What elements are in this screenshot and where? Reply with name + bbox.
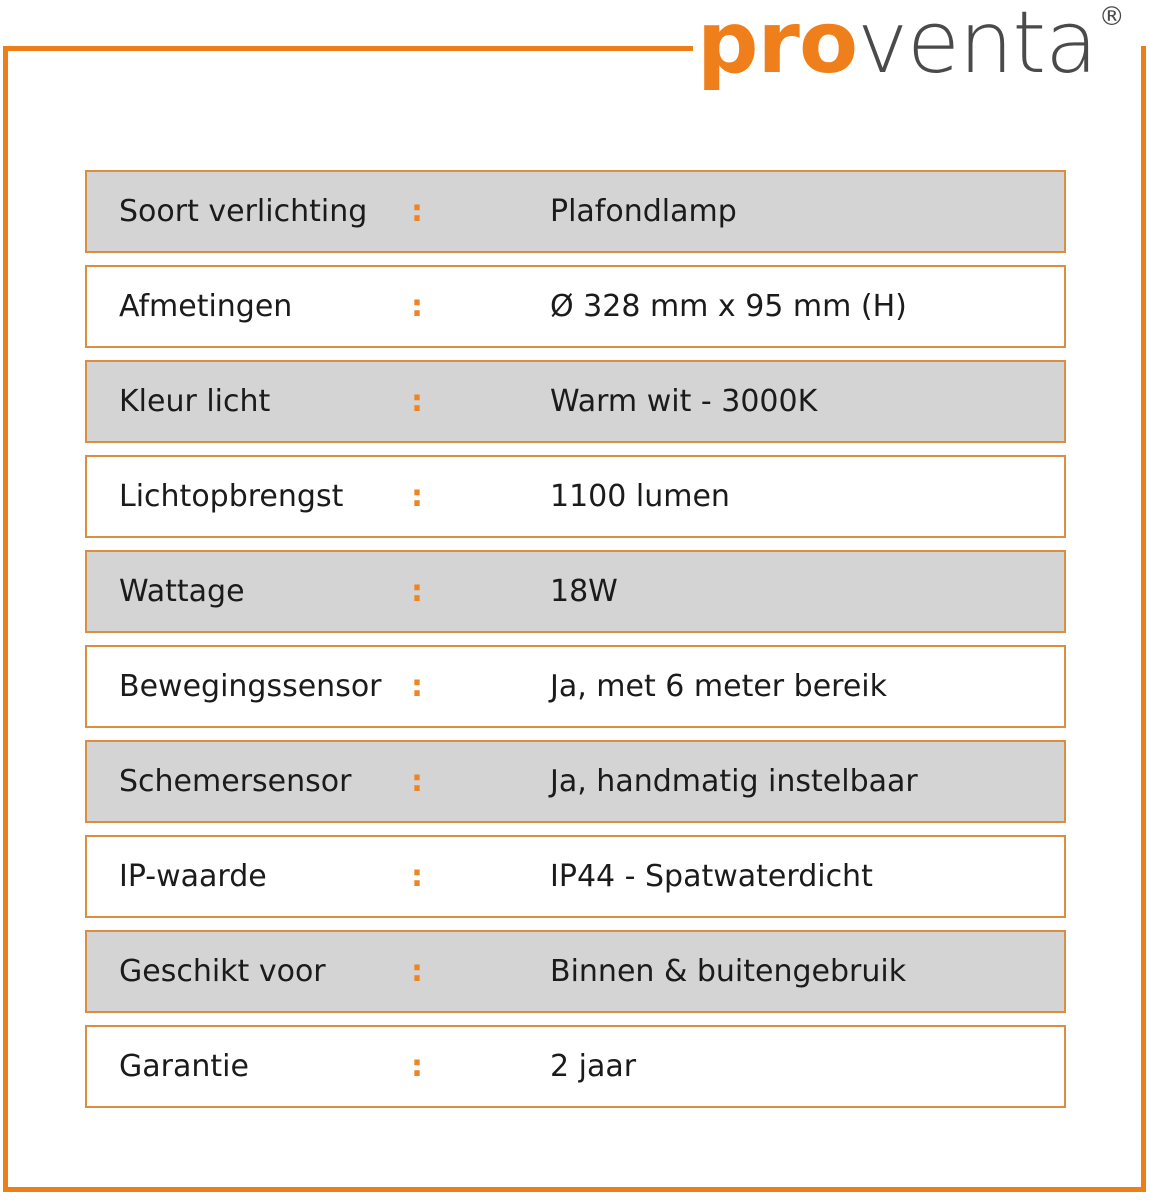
spec-label: Schemersensor: [87, 764, 407, 799]
spec-separator: :: [407, 387, 427, 417]
specification-table: Soort verlichting:PlafondlampAfmetingen:…: [85, 170, 1066, 1120]
spec-row: Kleur licht:Warm wit - 3000K: [85, 360, 1066, 443]
spec-label: Afmetingen: [87, 289, 407, 324]
spec-value: Ja, met 6 meter bereik: [427, 669, 1064, 704]
spec-value: Binnen & buitengebruik: [427, 954, 1064, 989]
spec-separator: :: [407, 577, 427, 607]
frame-top-border: [3, 46, 693, 51]
spec-separator: :: [407, 1052, 427, 1082]
spec-label: IP-waarde: [87, 859, 407, 894]
logo-text-venta: venta: [857, 0, 1097, 86]
spec-row: Geschikt voor:Binnen & buitengebruik: [85, 930, 1066, 1013]
spec-value: IP44 - Spatwaterdicht: [427, 859, 1064, 894]
spec-separator: :: [407, 862, 427, 892]
spec-value: 2 jaar: [427, 1049, 1064, 1084]
spec-value: 1100 lumen: [427, 479, 1064, 514]
registered-mark-icon: ®: [1099, 4, 1125, 30]
spec-separator: :: [407, 767, 427, 797]
spec-value: 18W: [427, 574, 1064, 609]
spec-separator: :: [407, 482, 427, 512]
spec-separator: :: [407, 957, 427, 987]
spec-value: Plafondlamp: [427, 194, 1064, 229]
spec-value: Warm wit - 3000K: [427, 384, 1064, 419]
spec-row: Afmetingen:Ø 328 mm x 95 mm (H): [85, 265, 1066, 348]
spec-label: Lichtopbrengst: [87, 479, 407, 514]
spec-label: Garantie: [87, 1049, 407, 1084]
spec-separator: :: [407, 672, 427, 702]
spec-label: Wattage: [87, 574, 407, 609]
spec-row: Schemersensor:Ja, handmatig instelbaar: [85, 740, 1066, 823]
spec-row: Lichtopbrengst:1100 lumen: [85, 455, 1066, 538]
spec-row: Garantie:2 jaar: [85, 1025, 1066, 1108]
spec-label: Kleur licht: [87, 384, 407, 419]
spec-label: Bewegingssensor: [87, 669, 407, 704]
spec-separator: :: [407, 292, 427, 322]
spec-row: Bewegingssensor:Ja, met 6 meter bereik: [85, 645, 1066, 728]
proventa-logo: pro venta ®: [697, 0, 1125, 92]
spec-row: Wattage:18W: [85, 550, 1066, 633]
spec-value: Ø 328 mm x 95 mm (H): [427, 289, 1064, 324]
spec-row: IP-waarde:IP44 - Spatwaterdicht: [85, 835, 1066, 918]
logo-text-pro: pro: [697, 0, 857, 86]
spec-value: Ja, handmatig instelbaar: [427, 764, 1064, 799]
spec-label: Geschikt voor: [87, 954, 407, 989]
spec-row: Soort verlichting:Plafondlamp: [85, 170, 1066, 253]
spec-label: Soort verlichting: [87, 194, 407, 229]
spec-separator: :: [407, 197, 427, 227]
